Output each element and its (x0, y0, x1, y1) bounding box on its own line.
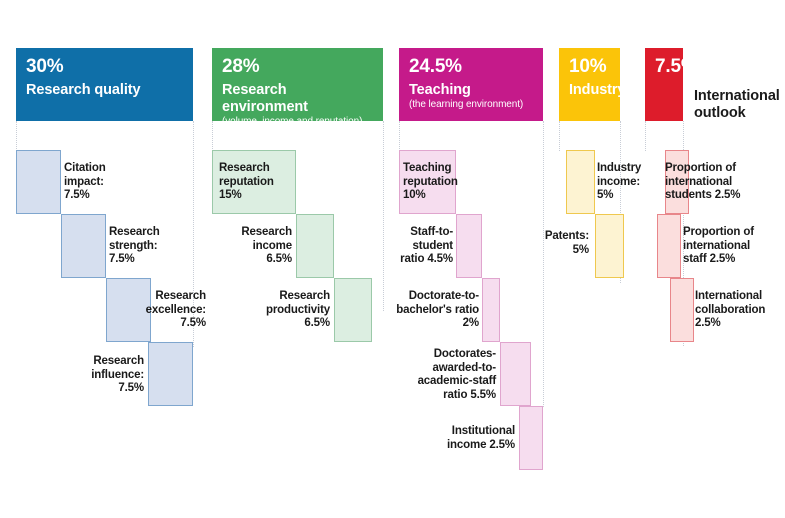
metric-label-teaching-0: Teaching reputation 10% (403, 162, 463, 203)
metric-label-research-environment-2: Research productivity 6.5% (252, 290, 330, 331)
pillar-header-industry[interactable]: 10%Industry (559, 48, 620, 121)
metric-label-international-outlook-2: International collaboration 2.5% (695, 290, 781, 331)
metric-label-research-quality-0: Citation impact: 7.5% (64, 162, 124, 203)
pillar-name-teaching: Teaching (409, 82, 533, 99)
guide-line-research-quality-0 (16, 121, 18, 151)
metric-box-industry-1[interactable] (595, 214, 624, 278)
metric-box-teaching-3[interactable] (500, 342, 531, 406)
metric-label-research-quality-3: Research influence: 7.5% (78, 355, 144, 396)
pillar-header-international-outlook[interactable]: 7.5% (645, 48, 683, 121)
guide-line-teaching-0 (399, 121, 401, 151)
metric-box-research-environment-2[interactable] (334, 278, 372, 342)
pillar-name-research-environment: Research environment (222, 82, 373, 116)
metric-label-industry-0: Industry income: 5% (597, 162, 653, 203)
metric-box-research-quality-3[interactable] (148, 342, 193, 406)
pillar-percent-research-quality: 30% (26, 56, 183, 78)
pillar-percent-teaching: 24.5% (409, 56, 533, 78)
pillar-name-industry: Industry (569, 82, 610, 99)
pillar-percent-international-outlook: 7.5% (655, 56, 673, 78)
metric-label-teaching-4: Institutional income 2.5% (435, 425, 515, 452)
metric-box-international-outlook-1[interactable] (657, 214, 681, 278)
pillar-header-teaching[interactable]: 24.5%Teaching(the learning environment) (399, 48, 543, 121)
metric-label-teaching-1: Staff-to- student ratio 4.5% (395, 226, 453, 267)
guide-line-research-environment-0 (212, 121, 214, 151)
pillar-name-research-quality: Research quality (26, 82, 183, 99)
guide-line-teaching-1 (543, 121, 545, 407)
metric-label-research-quality-2: Research excellence: 7.5% (136, 290, 206, 331)
metric-label-research-environment-1: Research income 6.5% (228, 226, 292, 267)
metric-box-teaching-1[interactable] (456, 214, 482, 278)
metric-label-teaching-3: Doctorates- awarded-to- academic-staff r… (408, 348, 496, 402)
metric-box-research-environment-1[interactable] (296, 214, 334, 278)
metric-box-international-outlook-2[interactable] (670, 278, 694, 342)
metric-label-research-environment-0: Research reputation 15% (219, 162, 289, 203)
metric-label-industry-1: Patents: 5% (527, 230, 589, 257)
metric-box-research-quality-1[interactable] (61, 214, 106, 278)
metric-label-international-outlook-0: Proportion of international students 2.5… (665, 162, 751, 203)
metric-box-teaching-2[interactable] (482, 278, 500, 342)
metric-box-research-quality-0[interactable] (16, 150, 61, 214)
guide-line-industry-0 (559, 121, 561, 151)
pillar-header-research-quality[interactable]: 30%Research quality (16, 48, 193, 121)
metric-label-research-quality-1: Research strength: 7.5% (109, 226, 173, 267)
pillar-header-research-environment[interactable]: 28%Research environment(volume, income a… (212, 48, 383, 121)
metric-box-teaching-4[interactable] (519, 406, 543, 470)
infographic-canvas: 30%Research qualityCitation impact: 7.5%… (0, 0, 785, 518)
metric-label-international-outlook-1: Proportion of international staff 2.5% (683, 226, 769, 267)
guide-line-research-environment-1 (383, 121, 385, 311)
pillar-percent-industry: 10% (569, 56, 610, 78)
guide-line-international-outlook-0 (645, 121, 647, 151)
metric-label-teaching-2: Doctorate-to- bachelor's ratio 2% (393, 290, 479, 331)
pillar-subtitle-teaching: (the learning environment) (409, 99, 533, 111)
pillar-name-international-outlook: International outlook (694, 88, 780, 122)
pillar-percent-research-environment: 28% (222, 56, 373, 78)
pillar-subtitle-research-environment: (volume, income and reputation) (222, 116, 373, 128)
metric-box-industry-0[interactable] (566, 150, 595, 214)
